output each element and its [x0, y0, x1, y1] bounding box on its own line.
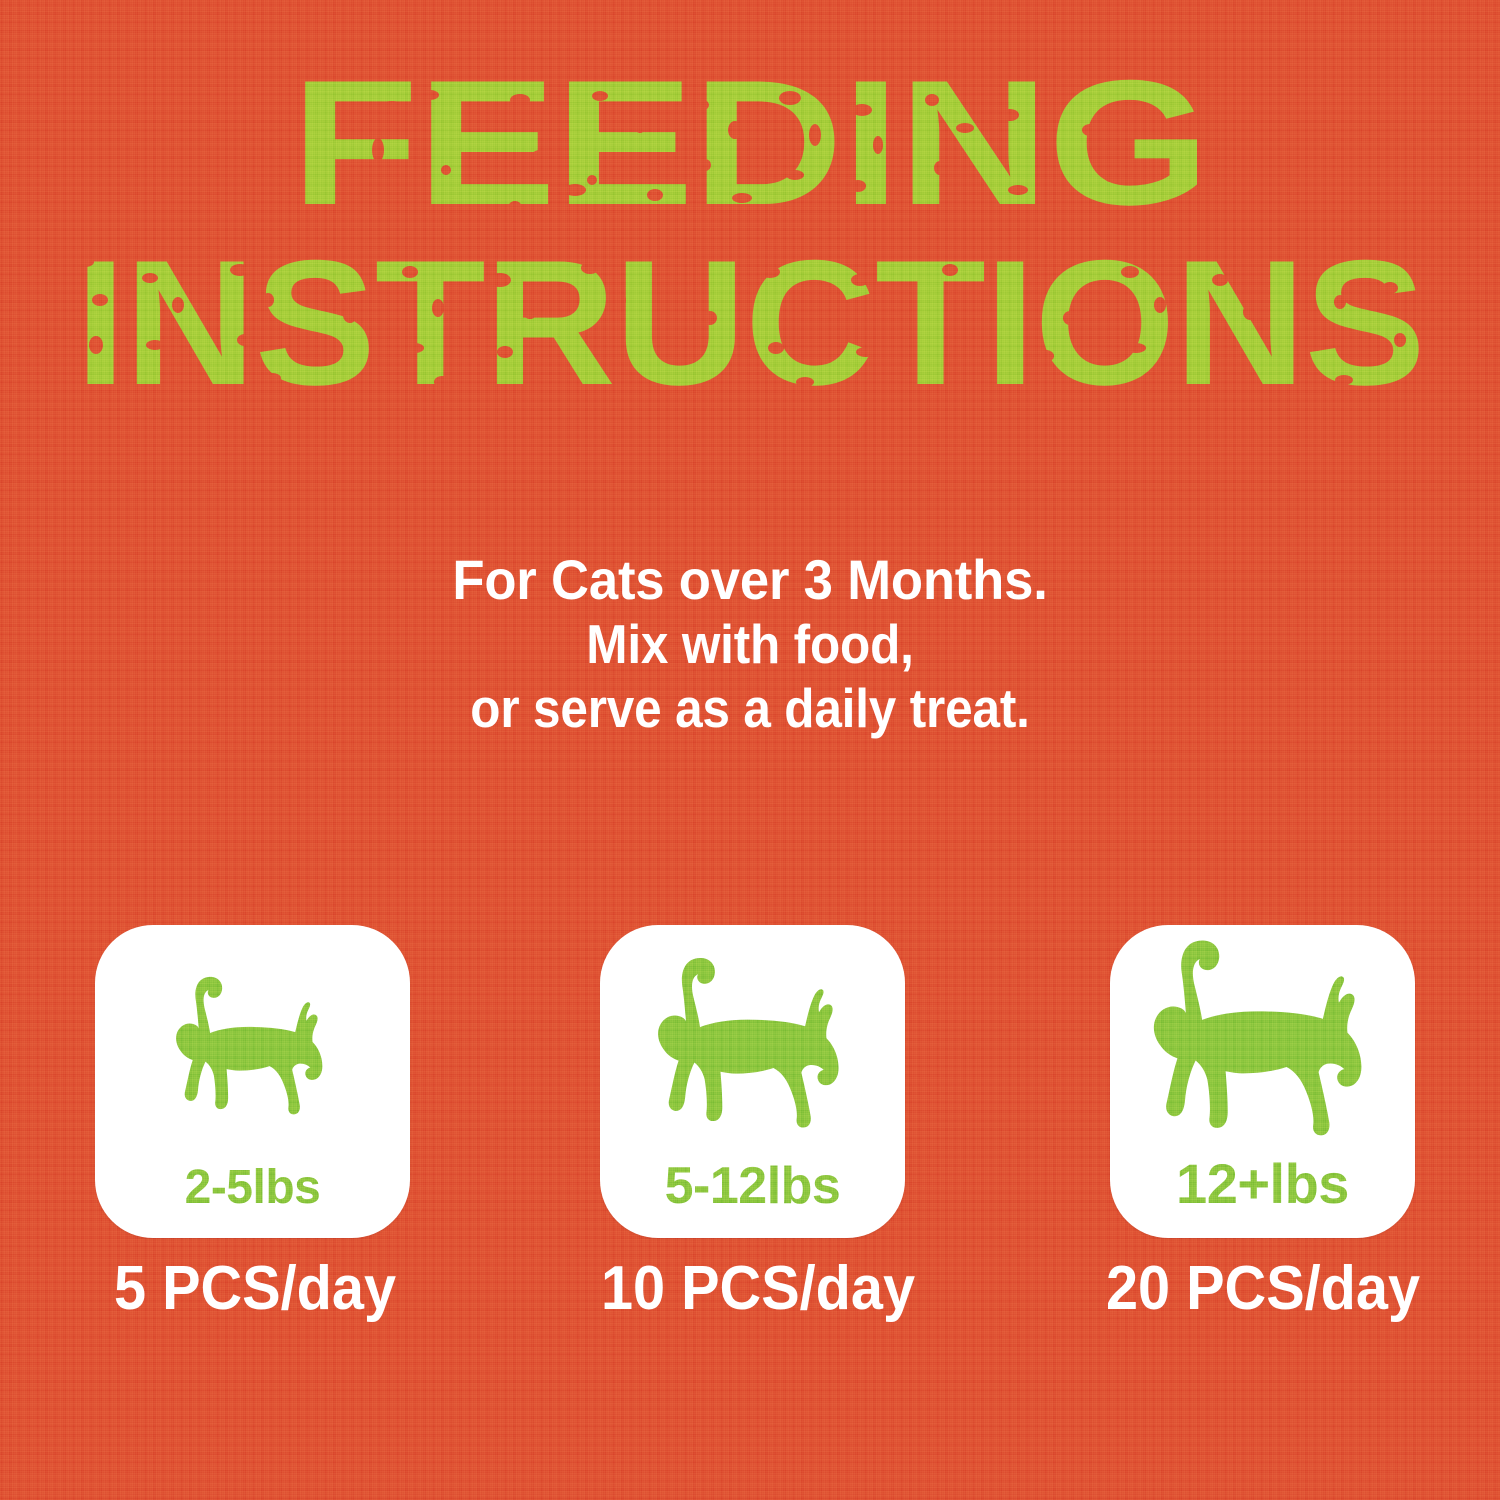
cat-walking-icon	[1124, 930, 1402, 1144]
weight-card-row: 2-5lbs 5-12lbs 12+lbs	[0, 925, 1500, 1240]
cat-icon-wrapper-small	[95, 961, 410, 1121]
cat-icon-wrapper-medium	[600, 945, 905, 1135]
weight-label-medium: 5-12lbs	[600, 1160, 905, 1212]
copy-line-mix: Mix with food,	[75, 613, 1425, 677]
dose-label-large: 20 PCS/day	[1082, 1258, 1445, 1320]
cat-icon-wrapper-large	[1110, 929, 1415, 1144]
weight-card-large: 12+lbs	[1110, 925, 1415, 1238]
weight-card-medium: 5-12lbs	[600, 925, 905, 1238]
dose-label-row: 5 PCS/day 10 PCS/day 20 PCS/day	[0, 1258, 1500, 1358]
weight-label-small: 2-5lbs	[95, 1164, 410, 1212]
dose-label-medium: 10 PCS/day	[581, 1258, 934, 1320]
heading-line-feeding: FEEDING	[0, 58, 1500, 227]
weight-card-small: 2-5lbs	[95, 925, 410, 1238]
cat-walking-icon	[155, 969, 351, 1121]
copy-line-treat: or serve as a daily treat.	[75, 677, 1425, 741]
body-copy-block: For Cats over 3 Months. Mix with food, o…	[0, 548, 1500, 741]
cat-walking-icon	[632, 949, 874, 1135]
weight-label-large: 12+lbs	[1110, 1156, 1415, 1212]
feeding-instructions-panel: FEEDING INSTRUCTIONS	[0, 0, 1500, 1500]
heading-line-instructions: INSTRUCTIONS	[0, 238, 1500, 407]
copy-line-age: For Cats over 3 Months.	[45, 548, 1455, 613]
dose-label-small: 5 PCS/day	[88, 1258, 423, 1320]
